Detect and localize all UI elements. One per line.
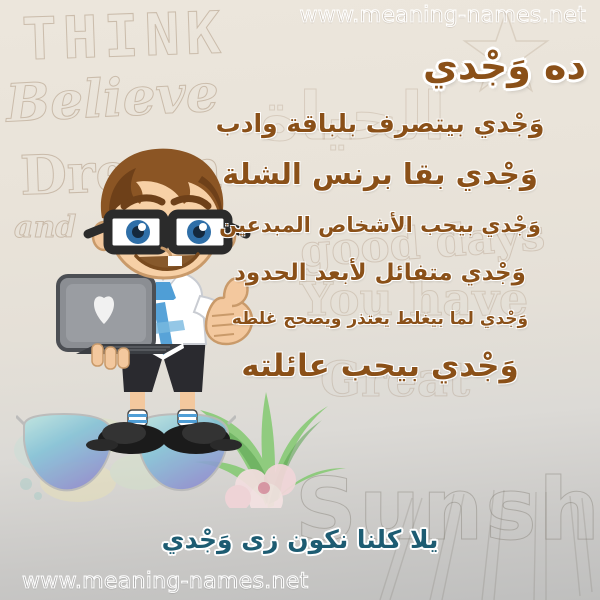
trait-line: وَجْدي لما بيغلط يعتذر ويصحح غلطه <box>170 310 590 328</box>
mascot-shoes <box>86 422 242 454</box>
trait-list: وَجْدي بيتصرف بلباقة وادب وَجْدي بقا برن… <box>170 110 590 384</box>
doodle-think: THINK <box>21 0 228 74</box>
trait-line: وَجْدي بقا برنس الشلة <box>170 159 590 190</box>
trait-line: وَجْدي بيحب الأشخاص المبدعين <box>170 214 590 237</box>
page-title: ده وَجْدي <box>423 44 586 88</box>
trait-line: وَجْدي بيتصرف بلباقة وادب <box>170 110 590 137</box>
watermark-bottom: www.meaning-names.net <box>22 569 309 594</box>
trait-line: وَجْدي بيحب عائلته <box>170 350 590 383</box>
trait-line: وَجْدي متفائل لأبعد الحدود <box>170 261 590 286</box>
footer-slogan: يلا كلنا نكون زى وَجْدي <box>0 525 600 554</box>
name-meaning-card: THINK Believe Dream and good days You ha… <box>0 0 600 600</box>
watermark-top: www.meaning-names.net <box>299 3 586 28</box>
